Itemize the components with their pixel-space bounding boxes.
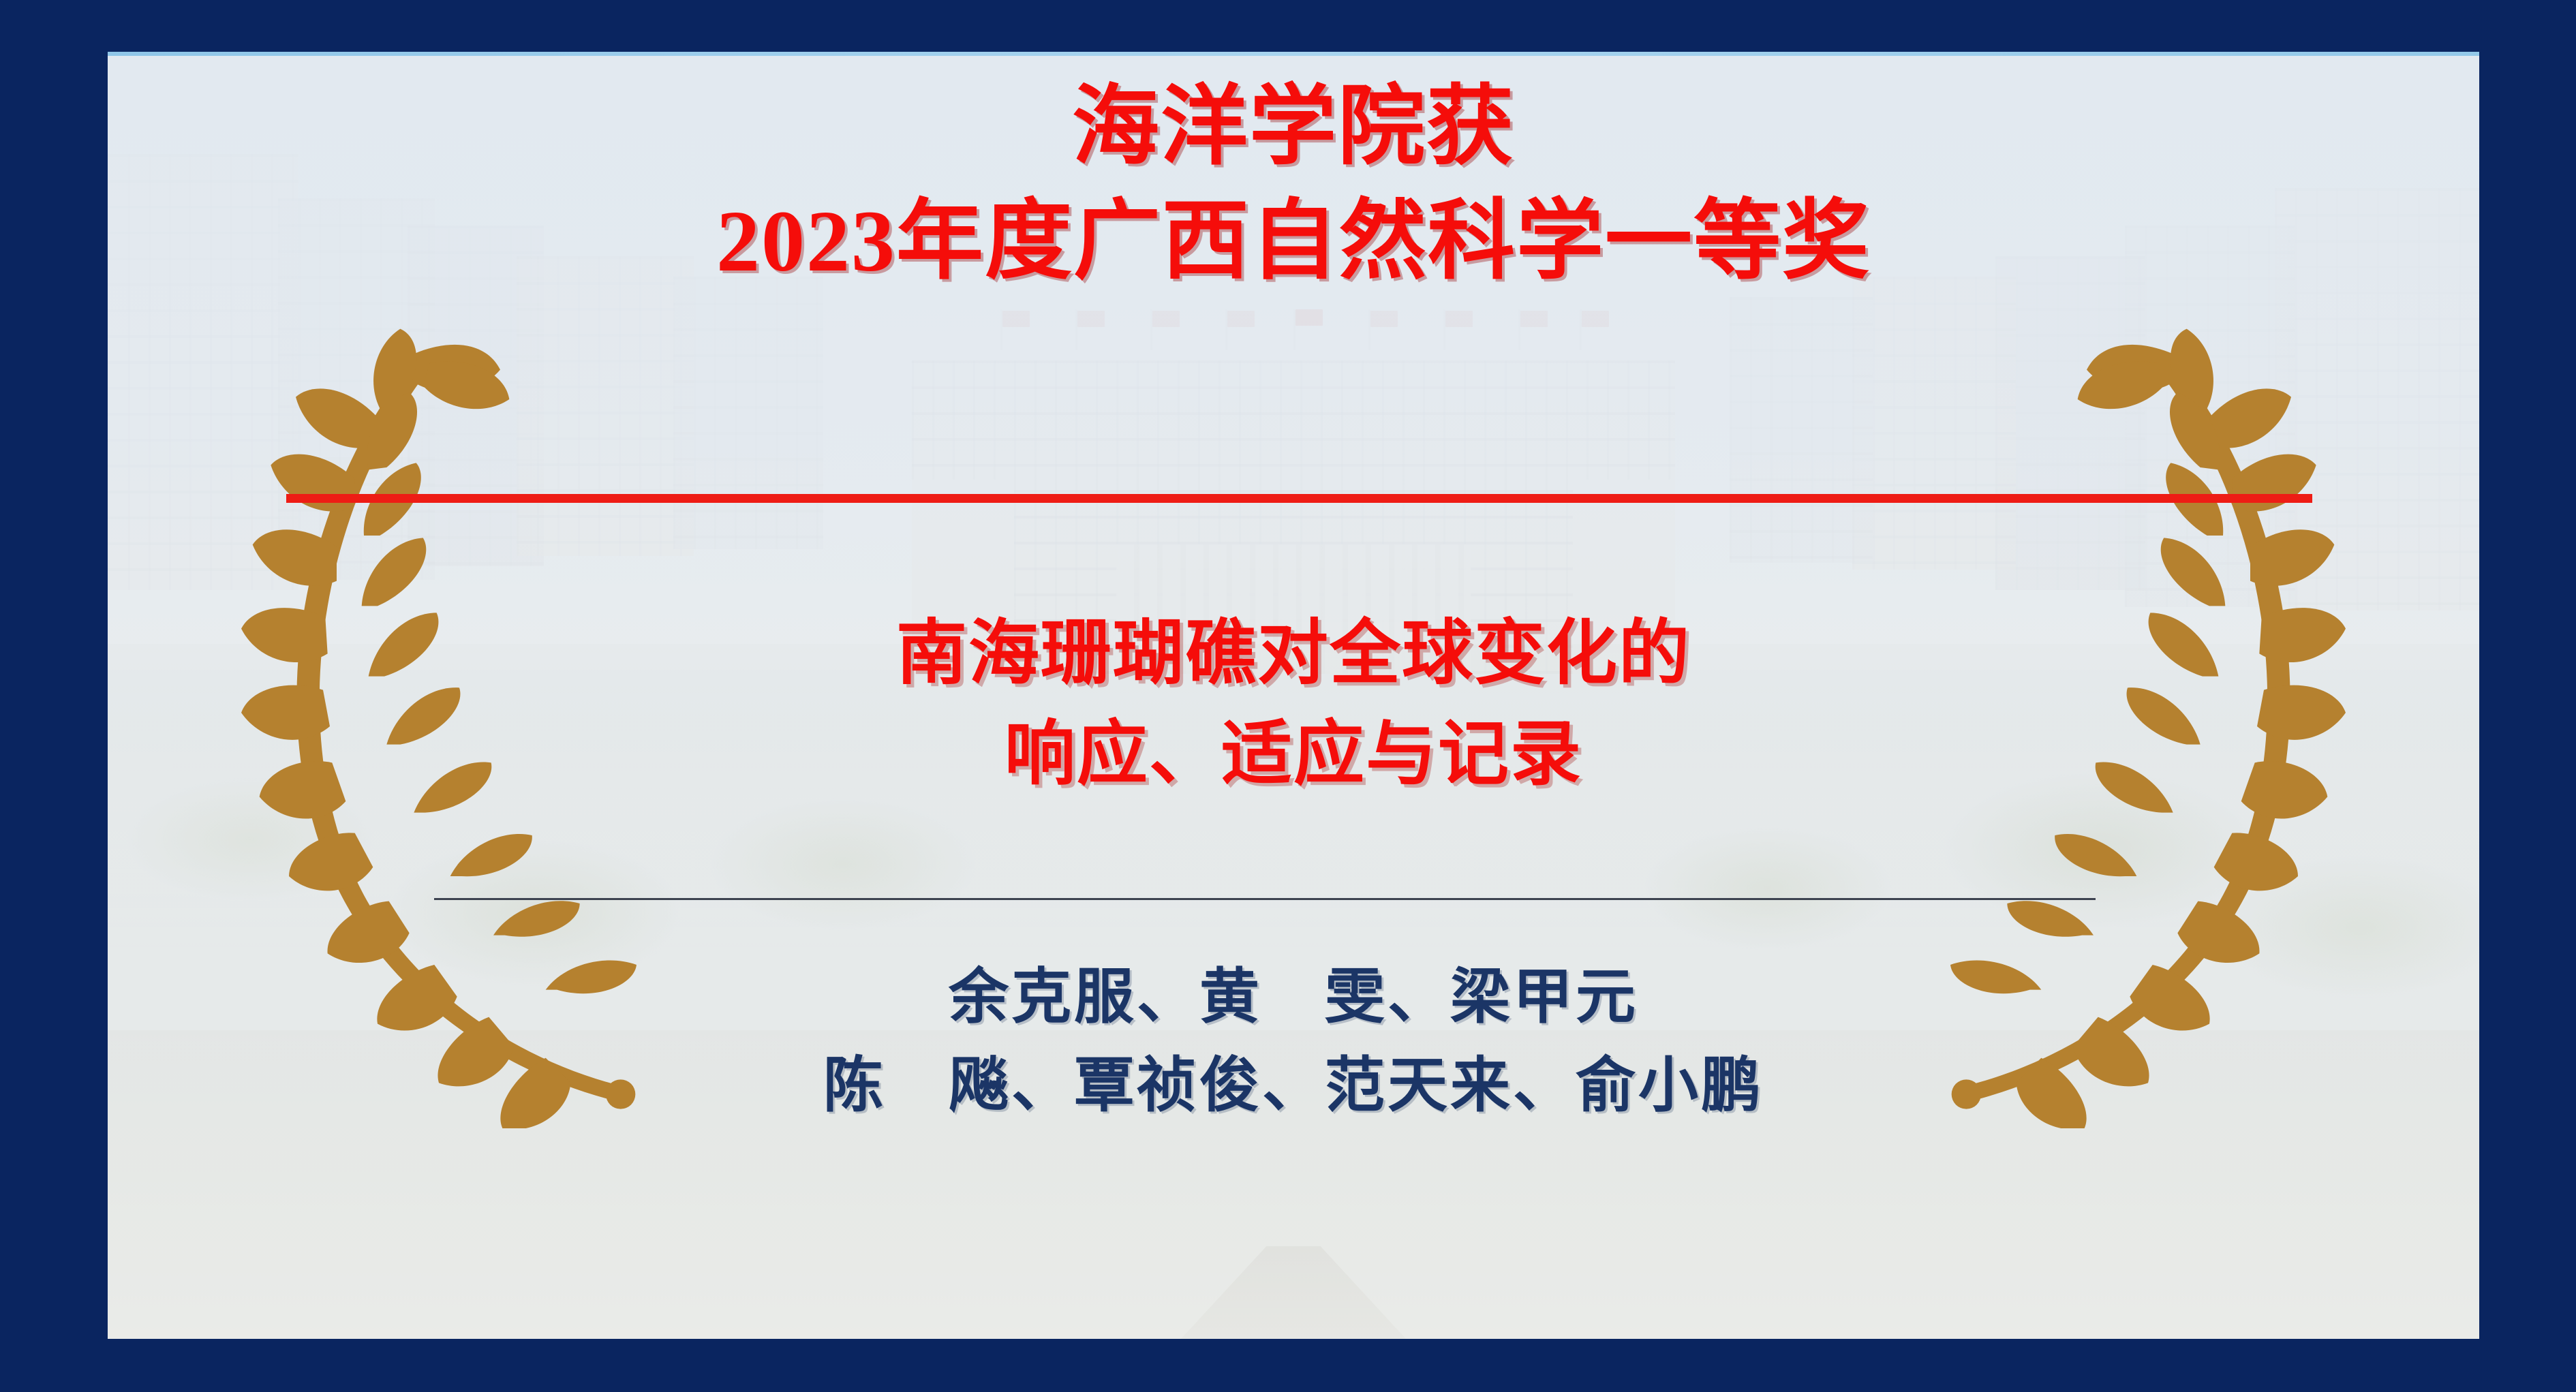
horizontal-rule-red (286, 494, 2312, 503)
slide-panel: 海洋学院获 2023年度广西自然科学一等奖 南海珊瑚礁对全球变化的 响应、适应与… (108, 52, 2479, 1339)
subtitle-block: 南海珊瑚礁对全球变化的 响应、适应与记录 (108, 604, 2479, 805)
slide-content: 海洋学院获 2023年度广西自然科学一等奖 南海珊瑚礁对全球变化的 响应、适应与… (108, 52, 2479, 1339)
title-block: 海洋学院获 2023年度广西自然科学一等奖 (108, 69, 2479, 298)
author-line-1: 余克服、黄 雯、梁甲元 (108, 954, 2479, 1042)
subtitle-line-1: 南海珊瑚礁对全球变化的 (108, 604, 2479, 705)
slide-root: 海洋学院获 2023年度广西自然科学一等奖 南海珊瑚礁对全球变化的 响应、适应与… (0, 0, 2576, 1392)
subtitle-line-2: 响应、适应与记录 (108, 705, 2479, 805)
title-line-1: 海洋学院获 (108, 69, 2479, 185)
authors-block: 余克服、黄 雯、梁甲元 陈 飚、覃祯俊、范天来、俞小鹏 (108, 954, 2479, 1131)
author-line-2: 陈 飚、覃祯俊、范天来、俞小鹏 (108, 1042, 2479, 1131)
horizontal-rule-grey (434, 898, 2096, 900)
title-line-2: 2023年度广西自然科学一等奖 (108, 185, 2479, 298)
